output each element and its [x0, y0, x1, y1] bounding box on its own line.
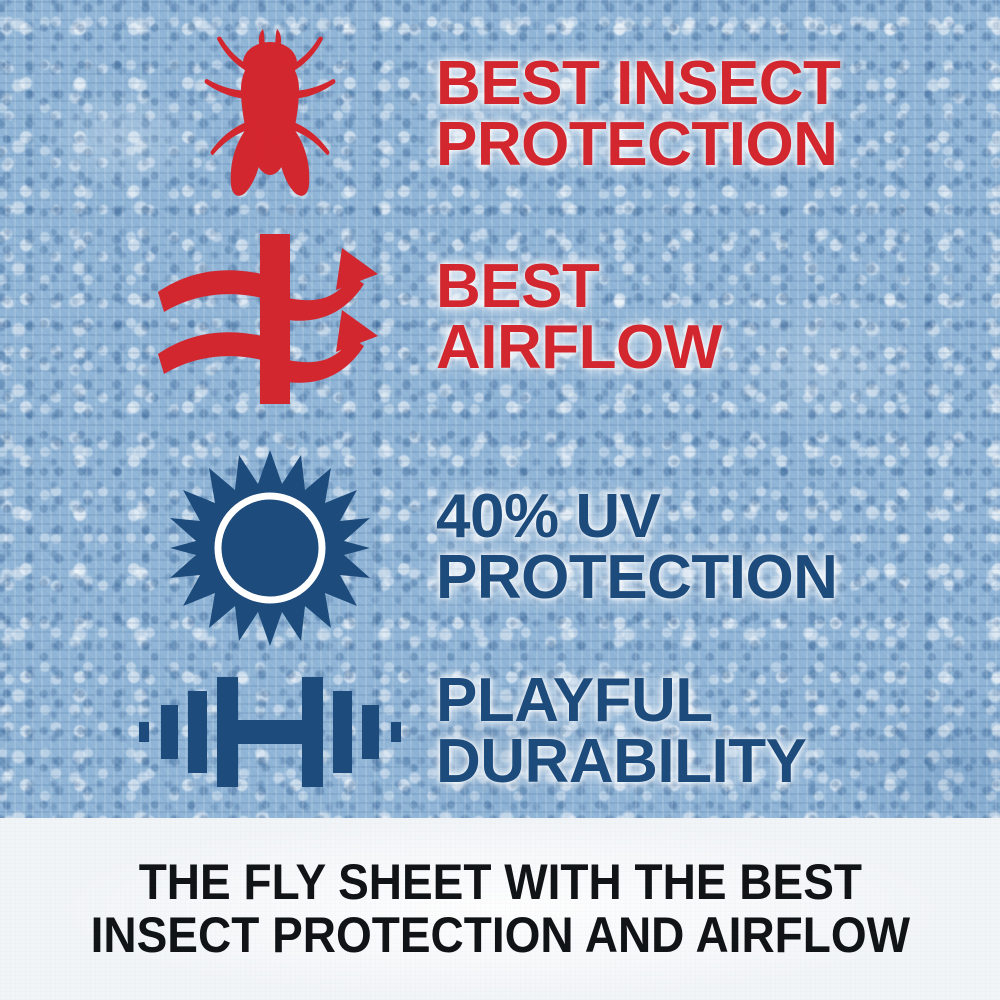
- feature-icon-cell: [120, 226, 420, 411]
- feature-label-insect-protection: BEST INSECT PROTECTION: [436, 54, 920, 176]
- product-feature-poster: BEST INSECT PROTECTION: [0, 0, 1000, 1000]
- feature-label-cell: BEST INSECT PROTECTION: [420, 54, 920, 176]
- feature-label-cell: BEST AIRFLOW: [420, 257, 920, 379]
- airflow-icon: [150, 226, 390, 411]
- feature-label-cell: PLAYFUL DURABILITY: [420, 671, 920, 793]
- feature-label-durability: PLAYFUL DURABILITY: [436, 671, 920, 793]
- caption-band: THE FLY SHEET WITH THE BEST INSECT PROTE…: [0, 818, 1000, 1000]
- fly-icon: [195, 25, 345, 205]
- feature-icon-cell: [120, 669, 420, 795]
- feature-icon-cell: [120, 25, 420, 205]
- caption-headline: THE FLY SHEET WITH THE BEST INSECT PROTE…: [90, 856, 909, 962]
- feature-row-airflow: BEST AIRFLOW: [120, 218, 920, 418]
- feature-row-durability: PLAYFUL DURABILITY: [120, 652, 920, 812]
- feature-row-insect-protection: BEST INSECT PROTECTION: [120, 20, 920, 210]
- feature-label-uv-protection: 40% UV PROTECTION: [436, 487, 920, 609]
- feature-label-cell: 40% UV PROTECTION: [420, 487, 920, 609]
- sun-uv-icon: [170, 448, 370, 648]
- dumbbell-icon: [139, 669, 401, 795]
- feature-row-uv-protection: 40% UV PROTECTION: [120, 440, 920, 655]
- feature-icon-cell: [120, 448, 420, 648]
- feature-label-airflow: BEST AIRFLOW: [436, 257, 920, 379]
